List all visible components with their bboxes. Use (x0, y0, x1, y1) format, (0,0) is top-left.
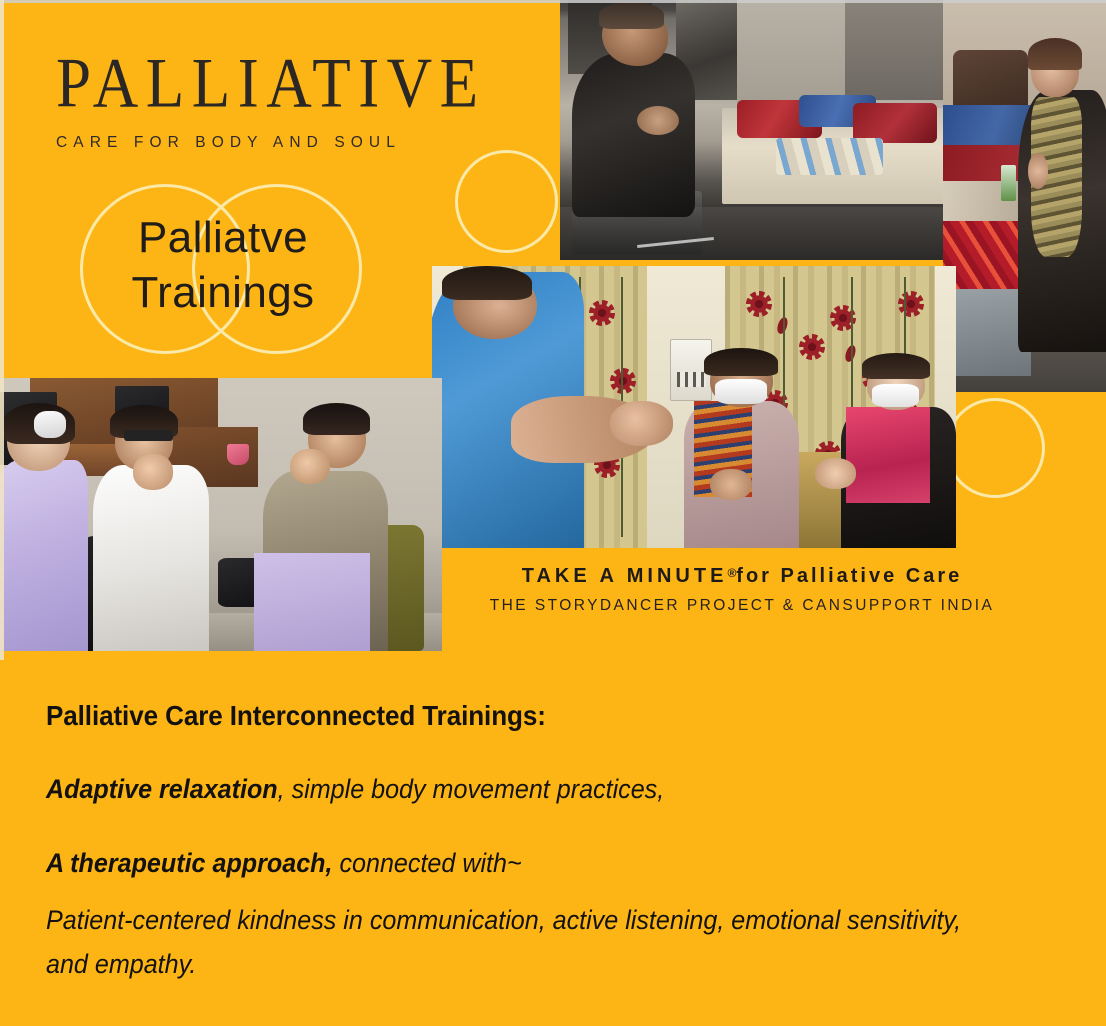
photo-center (432, 266, 956, 548)
logo-subtitle: CARE FOR BODY AND SOUL (56, 134, 486, 152)
photo-right (943, 0, 1106, 392)
registered-mark-icon: ® (727, 566, 736, 580)
body-line-adaptive-relaxation: Adaptive relaxation, simple body movemen… (46, 776, 1004, 803)
photo-bottom-left (0, 378, 442, 651)
body-line-2-bold: Adaptive relaxation (46, 774, 278, 804)
scan-edge-left (0, 0, 4, 660)
photo-frame-bottom-left (0, 378, 442, 651)
tagline-primary: TAKE A MINUTE®for Palliative Care (432, 565, 1052, 588)
photo-frame-center (432, 266, 956, 548)
tagline-organizations: THE STORYDANCER PROJECT & CANSUPPORT IND… (432, 597, 1052, 615)
body-copy-block: Palliative Care Interconnected Trainings… (46, 700, 1076, 986)
circle-badge-line-1: Palliatve (88, 210, 358, 265)
tagline-block: TAKE A MINUTE®for Palliative Care THE ST… (432, 565, 1052, 615)
logo-title: PALLIATIVE (56, 46, 486, 120)
tagline-take-a-minute: TAKE A MINUTE (522, 565, 728, 587)
scan-edge-top (0, 0, 1106, 3)
circle-badge-line-2: Trainings (88, 265, 358, 320)
tagline-for-palliative-care: for Palliative Care (736, 565, 962, 587)
photo-frame-right (943, 0, 1106, 392)
circle-badge-caption: Palliatve Trainings (88, 210, 358, 321)
decorative-circle-bottom-accent (945, 398, 1045, 498)
poster-canvas: PALLIATIVE CARE FOR BODY AND SOUL Pallia… (0, 0, 1106, 1026)
body-heading: Palliative Care Interconnected Trainings… (46, 700, 1004, 732)
body-line-patient-centered: Patient-centered kindness in communicati… (46, 899, 1004, 986)
brand-logo: PALLIATIVE CARE FOR BODY AND SOUL (56, 46, 486, 152)
photo-frame-top-center (560, 0, 945, 260)
decorative-circle-top-accent (455, 150, 558, 253)
body-line-therapeutic-approach: A therapeutic approach, connected with~ (46, 850, 1004, 877)
body-line-3-bold: A therapeutic approach, (46, 848, 332, 878)
photo-top-center (560, 0, 945, 260)
body-line-3-rest: connected with~ (332, 848, 521, 878)
body-line-2-rest: , simple body movement practices, (278, 774, 665, 804)
